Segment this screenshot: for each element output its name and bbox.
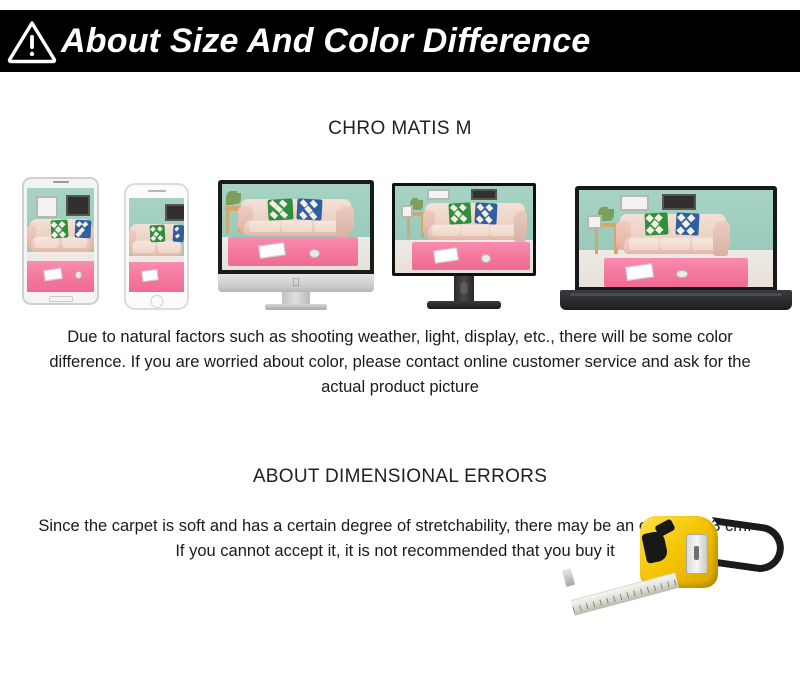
device-monitor-black — [392, 183, 536, 311]
phone-shell — [124, 183, 189, 310]
color-difference-note: Due to natural factors such as shooting … — [30, 325, 770, 400]
phone-screen — [27, 188, 94, 292]
imac-screen — [222, 184, 370, 270]
phone-shell — [22, 177, 99, 305]
room-scene — [579, 190, 773, 287]
laptop-bezel — [575, 186, 777, 292]
device-smartphone-dark — [22, 177, 99, 305]
phone-home-indicator — [49, 296, 73, 302]
monitor-screen — [395, 186, 533, 273]
laptop-screen — [579, 190, 773, 287]
imac-stand-foot — [265, 304, 327, 310]
room-scene — [129, 198, 184, 292]
tape-measure-blade-hook — [562, 568, 575, 587]
tape-measure-window — [686, 534, 708, 574]
phone-screen — [129, 198, 184, 292]
phone-home-button[interactable] — [150, 295, 163, 308]
phone-speaker-icon — [148, 190, 166, 192]
dimensional-errors-heading: ABOUT DIMENSIONAL ERRORS — [0, 466, 800, 488]
monitor-cable-hole — [461, 282, 468, 294]
imac-bezel — [218, 180, 374, 274]
phone-speaker-icon — [53, 181, 69, 183]
device-smartphone-white — [124, 183, 189, 310]
monitor-stand-foot — [427, 301, 501, 309]
room-scene — [222, 184, 370, 270]
warning-triangle-icon — [6, 18, 58, 64]
room-scene — [395, 186, 533, 273]
apple-logo-icon:  — [292, 278, 300, 289]
monitor-bezel — [392, 183, 536, 276]
imac-chin:  — [218, 274, 374, 292]
brand-label: CHRO MATIS M — [0, 118, 800, 140]
device-desktop-imac:  — [218, 180, 374, 310]
device-laptop — [560, 186, 792, 312]
header-banner: About Size And Color Difference — [0, 10, 800, 72]
page-title: About Size And Color Difference — [61, 22, 590, 61]
imac-stand-neck — [282, 292, 310, 305]
laptop-base — [560, 290, 792, 310]
laptop-base-lip — [570, 293, 782, 296]
tape-measure-icon — [570, 498, 800, 628]
tape-measure-blade — [571, 572, 679, 615]
monitor-stand-neck — [454, 276, 474, 301]
room-scene — [27, 188, 94, 292]
